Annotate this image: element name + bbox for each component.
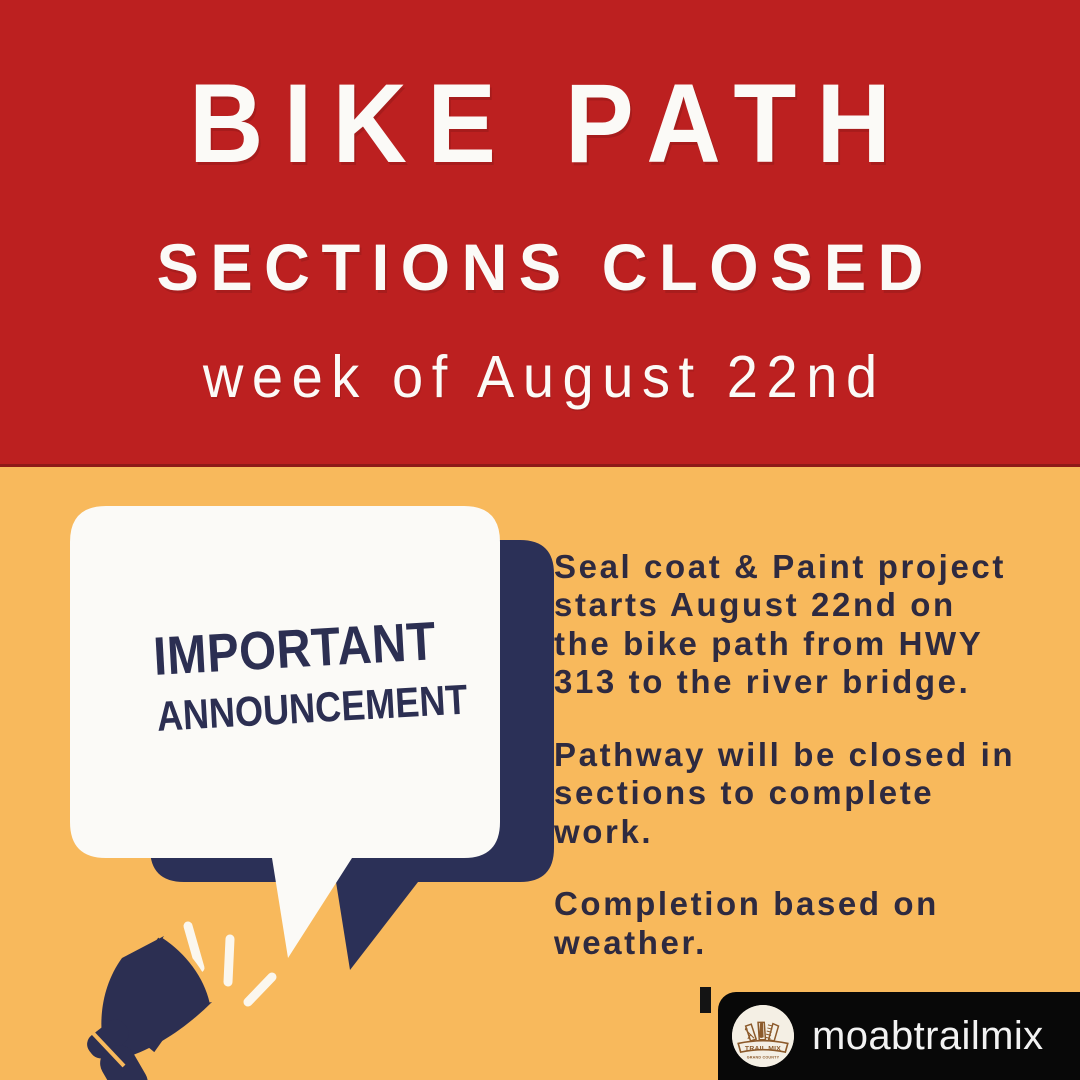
speech-bubble-icon [60,490,560,1080]
poster-canvas: BIKE PATH SECTIONS CLOSED week of August… [0,0,1080,1080]
speech-bubble-body [70,506,500,958]
trail-mix-logo-icon[interactable]: TRAIL MIX GRAND COUNTY [732,1005,794,1067]
watermark-corner-stub [700,987,711,1013]
watermark-bar[interactable]: TRAIL MIX GRAND COUNTY moabtrailmix [718,992,1080,1080]
body-paragraph: Pathway will be closed in sections to co… [554,736,1024,851]
announcement-illustration: IMPORTANT ANNOUNCEMENT [60,490,560,1080]
body-paragraph: Completion based on weather. [554,885,1024,962]
watermark-username[interactable]: moabtrailmix [812,1014,1044,1059]
header-banner: BIKE PATH SECTIONS CLOSED week of August… [0,0,1080,466]
svg-text:TRAIL MIX: TRAIL MIX [745,1045,781,1052]
page-title-secondary: SECTIONS CLOSED [22,234,1059,300]
page-title-primary: BIKE PATH [43,68,1037,180]
announcement-body: Seal coat & Paint project starts August … [554,548,1024,962]
banner-divider [0,464,1080,467]
page-subtitle-date: week of August 22nd [27,348,1053,407]
svg-text:GRAND COUNTY: GRAND COUNTY [747,1055,780,1059]
body-paragraph: Seal coat & Paint project starts August … [554,548,1024,702]
